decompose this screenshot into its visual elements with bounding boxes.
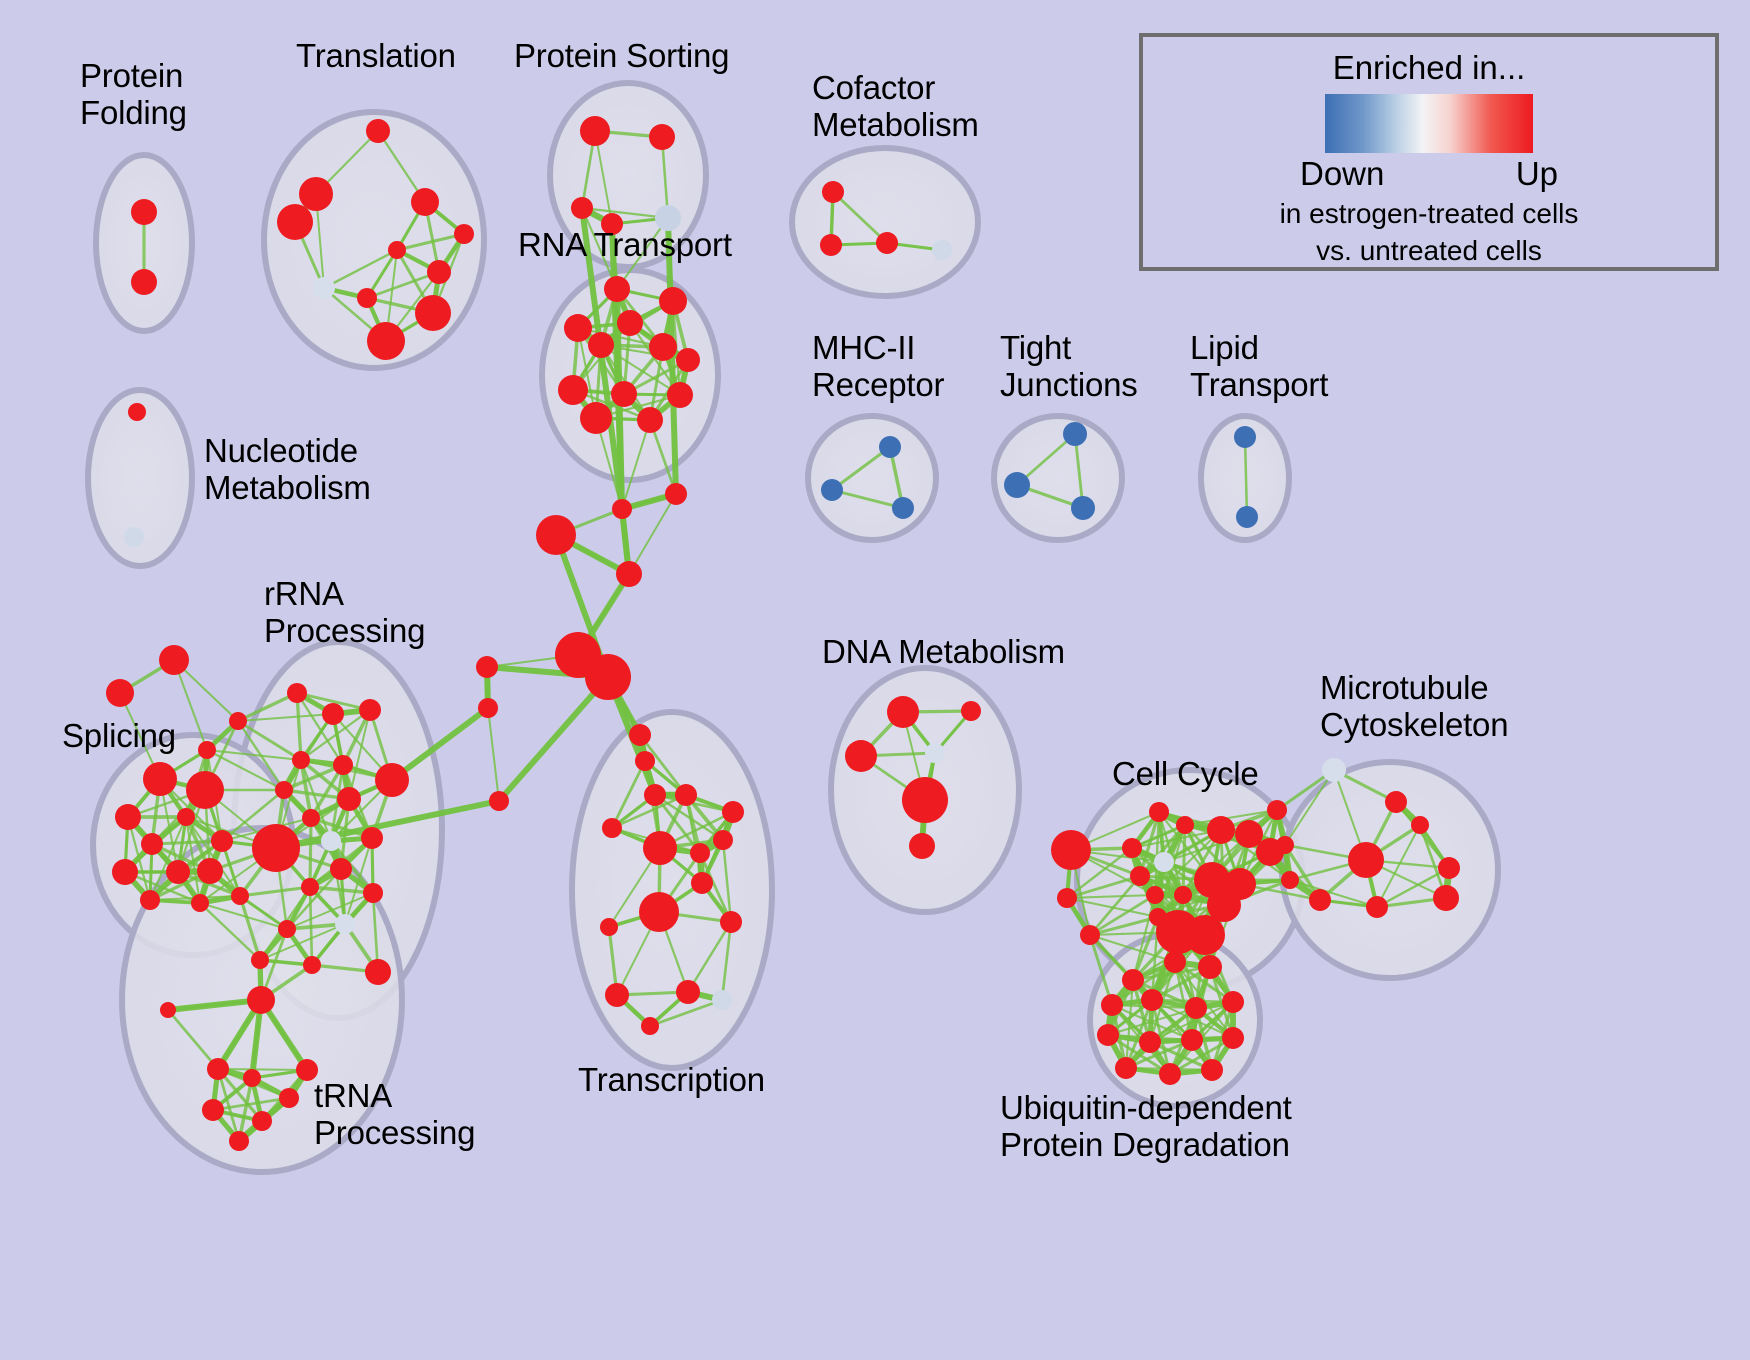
legend-box: Enriched in... Down Up in estrogen-treat… <box>1139 33 1719 271</box>
network-node[interactable] <box>1276 836 1294 854</box>
network-node[interactable] <box>1154 852 1174 872</box>
cluster-label-line: rRNA <box>264 576 425 613</box>
network-node[interactable] <box>675 784 697 806</box>
network-node[interactable] <box>252 824 300 872</box>
network-node[interactable] <box>822 181 844 203</box>
cluster-label-line: Lipid <box>1190 330 1328 367</box>
network-node[interactable] <box>363 883 383 903</box>
edge <box>1183 825 1185 895</box>
cluster-label-nucleotide-metabolism: NucleotideMetabolism <box>204 433 371 507</box>
network-node[interactable] <box>1281 871 1299 889</box>
network-node[interactable] <box>427 260 451 284</box>
network-node[interactable] <box>617 310 643 336</box>
network-node[interactable] <box>367 322 405 360</box>
cluster-hull-mhc-ii-receptor <box>808 416 936 540</box>
network-node[interactable] <box>1348 842 1384 878</box>
network-node[interactable] <box>659 287 687 315</box>
network-node[interactable] <box>602 818 622 838</box>
cluster-label-line: Metabolism <box>812 107 979 144</box>
network-node[interactable] <box>879 436 901 458</box>
cluster-label-transcription: Transcription <box>578 1062 765 1099</box>
network-node[interactable] <box>585 654 631 700</box>
cluster-label-line: Protein Sorting <box>514 38 729 75</box>
cluster-label-translation: Translation <box>296 38 456 75</box>
network-node[interactable] <box>211 830 233 852</box>
network-node[interactable] <box>279 1088 299 1108</box>
cluster-label-line: Processing <box>314 1115 475 1152</box>
color-gradient-bar <box>1325 94 1533 153</box>
network-node[interactable] <box>411 188 439 216</box>
network-node[interactable] <box>361 827 383 849</box>
network-node[interactable] <box>229 712 247 730</box>
network-node[interactable] <box>186 771 224 809</box>
legend-title: Enriched in... <box>1333 49 1526 87</box>
legend-high-label: Up <box>1516 155 1558 193</box>
network-node[interactable] <box>365 959 391 985</box>
cluster-hull-transcription <box>572 712 772 1068</box>
network-node[interactable] <box>335 914 355 934</box>
network-node[interactable] <box>302 809 320 827</box>
network-node[interactable] <box>713 830 733 850</box>
network-node[interactable] <box>330 858 352 880</box>
network-node[interactable] <box>231 887 249 905</box>
network-node[interactable] <box>375 763 409 797</box>
cluster-label-line: Transcription <box>578 1062 765 1099</box>
network-node[interactable] <box>1164 951 1186 973</box>
cluster-label-line: Receptor <box>812 367 944 404</box>
network-node[interactable] <box>159 645 189 675</box>
network-node[interactable] <box>112 859 138 885</box>
network-node[interactable] <box>820 234 842 256</box>
network-node[interactable] <box>1146 886 1164 904</box>
network-node[interactable] <box>287 683 307 703</box>
network-node[interactable] <box>887 696 919 728</box>
network-node[interactable] <box>1198 955 1222 979</box>
cluster-label-splicing: Splicing <box>62 718 176 755</box>
network-node[interactable] <box>676 348 700 372</box>
network-node[interactable] <box>1385 791 1407 813</box>
network-node[interactable] <box>243 1069 261 1087</box>
network-node[interactable] <box>1438 857 1460 879</box>
cluster-label-line: Protein Degradation <box>1000 1127 1292 1164</box>
network-node[interactable] <box>197 858 223 884</box>
network-node[interactable] <box>128 403 146 421</box>
network-node[interactable] <box>191 894 209 912</box>
network-node[interactable] <box>892 497 914 519</box>
network-node[interactable] <box>1176 816 1194 834</box>
network-node[interactable] <box>1080 925 1100 945</box>
network-node[interactable] <box>604 276 630 302</box>
network-node[interactable] <box>301 878 319 896</box>
network-node[interactable] <box>415 295 451 331</box>
network-node[interactable] <box>1097 1024 1119 1046</box>
network-node[interactable] <box>600 918 618 936</box>
network-node[interactable] <box>1222 1027 1244 1049</box>
network-node[interactable] <box>1411 816 1429 834</box>
network-node[interactable] <box>247 986 275 1014</box>
network-node[interactable] <box>932 240 952 260</box>
network-node[interactable] <box>476 656 498 678</box>
cluster-label-cell-cycle: Cell Cycle <box>1112 756 1259 793</box>
cluster-label-line: Splicing <box>62 718 176 755</box>
cluster-label-line: Ubiquitin-dependent <box>1000 1090 1292 1127</box>
network-node[interactable] <box>690 843 710 863</box>
network-node[interactable] <box>649 124 675 150</box>
network-node[interactable] <box>821 479 843 501</box>
network-node[interactable] <box>124 527 144 547</box>
network-node[interactable] <box>1236 506 1258 528</box>
network-node[interactable] <box>1115 1057 1137 1079</box>
cluster-label-line: Nucleotide <box>204 433 371 470</box>
network-node[interactable] <box>1222 991 1244 1013</box>
network-node[interactable] <box>580 402 612 434</box>
network-node[interactable] <box>1185 915 1225 955</box>
network-node[interactable] <box>322 703 344 725</box>
cluster-label-line: Cytoskeleton <box>1320 707 1508 744</box>
network-node[interactable] <box>198 741 216 759</box>
cluster-label-protein-folding: ProteinFolding <box>80 58 187 132</box>
cluster-label-line: tRNA <box>314 1078 475 1115</box>
edge <box>488 708 499 801</box>
network-node[interactable] <box>639 892 679 932</box>
network-node[interactable] <box>649 333 677 361</box>
network-node[interactable] <box>564 314 592 342</box>
network-node[interactable] <box>1071 496 1095 520</box>
network-node[interactable] <box>303 956 321 974</box>
network-node[interactable] <box>1181 1029 1203 1051</box>
cluster-label-line: RNA Transport <box>518 227 732 264</box>
network-node[interactable] <box>321 831 341 851</box>
network-node[interactable] <box>1201 1059 1223 1081</box>
enrichment-map-figure: ProteinFoldingTranslationProtein Sorting… <box>0 0 1750 1360</box>
network-node[interactable] <box>1185 997 1207 1019</box>
network-node[interactable] <box>629 724 651 746</box>
network-node[interactable] <box>665 483 687 505</box>
network-node[interactable] <box>1309 889 1331 911</box>
cluster-label-tight-junctions: TightJunctions <box>1000 330 1138 404</box>
network-node[interactable] <box>292 751 310 769</box>
network-node[interactable] <box>1322 758 1346 782</box>
network-node[interactable] <box>166 860 190 884</box>
cluster-label-line: Cell Cycle <box>1112 756 1259 793</box>
cluster-label-line: Metabolism <box>204 470 371 507</box>
network-node[interactable] <box>277 204 313 240</box>
network-node[interactable] <box>667 382 693 408</box>
cluster-label-protein-sorting: Protein Sorting <box>514 38 729 75</box>
cluster-label-line: Folding <box>80 95 187 132</box>
cluster-label-line: Microtubule <box>1320 670 1508 707</box>
network-node[interactable] <box>357 288 377 308</box>
legend-low-label: Down <box>1300 155 1384 193</box>
network-node[interactable] <box>1139 1031 1161 1053</box>
network-node[interactable] <box>571 197 593 219</box>
cluster-label-line: Junctions <box>1000 367 1138 404</box>
network-node[interactable] <box>337 787 361 811</box>
network-node[interactable] <box>1433 885 1459 911</box>
network-node[interactable] <box>275 781 293 799</box>
network-node[interactable] <box>1063 422 1087 446</box>
network-node[interactable] <box>489 791 509 811</box>
network-node[interactable] <box>366 119 390 143</box>
network-node[interactable] <box>1101 994 1123 1016</box>
legend-endpoint-labels: Down Up <box>1300 155 1558 193</box>
network-node[interactable] <box>1122 969 1144 991</box>
network-node[interactable] <box>1234 426 1256 448</box>
network-node[interactable] <box>140 890 160 910</box>
network-node[interactable] <box>902 777 948 823</box>
network-node[interactable] <box>106 679 134 707</box>
network-node[interactable] <box>612 499 632 519</box>
network-node[interactable] <box>1130 866 1150 886</box>
network-node[interactable] <box>131 199 157 225</box>
network-node[interactable] <box>202 1099 224 1121</box>
cluster-label-rrna-processing: rRNAProcessing <box>264 576 425 650</box>
network-node[interactable] <box>712 990 732 1010</box>
network-node[interactable] <box>229 1131 249 1151</box>
network-node[interactable] <box>478 698 498 718</box>
network-node[interactable] <box>1174 886 1192 904</box>
network-node[interactable] <box>676 980 700 1004</box>
cluster-label-microtubule-cytoskeleton: MicrotubuleCytoskeleton <box>1320 670 1508 744</box>
network-node[interactable] <box>252 1111 272 1131</box>
network-node[interactable] <box>635 751 655 771</box>
cluster-label-lipid-transport: LipidTransport <box>1190 330 1328 404</box>
cluster-label-trna-processing: tRNAProcessing <box>314 1078 475 1152</box>
cluster-label-ubiquitin-degradation: Ubiquitin-dependentProtein Degradation <box>1000 1090 1292 1164</box>
network-node[interactable] <box>611 381 637 407</box>
network-node[interactable] <box>605 983 629 1007</box>
network-node[interactable] <box>313 277 335 299</box>
legend-caption-line1: in estrogen-treated cells <box>1280 197 1579 230</box>
network-node[interactable] <box>641 1017 659 1035</box>
network-node[interactable] <box>207 1058 229 1080</box>
network-node[interactable] <box>637 407 663 433</box>
cluster-label-mhc-ii-receptor: MHC-IIReceptor <box>812 330 944 404</box>
cluster-label-cofactor-metabolism: CofactorMetabolism <box>812 70 979 144</box>
network-node[interactable] <box>1149 802 1169 822</box>
network-node[interactable] <box>691 872 713 894</box>
network-node[interactable] <box>876 232 898 254</box>
network-node[interactable] <box>1141 989 1163 1011</box>
network-node[interactable] <box>141 833 163 855</box>
network-node[interactable] <box>616 561 642 587</box>
network-node[interactable] <box>359 699 381 721</box>
cluster-label-rna-transport: RNA Transport <box>518 227 732 264</box>
cluster-label-line: Tight <box>1000 330 1138 367</box>
network-node[interactable] <box>1057 888 1077 908</box>
cluster-label-line: DNA Metabolism <box>822 634 1065 671</box>
network-node[interactable] <box>558 375 588 405</box>
network-node[interactable] <box>333 755 353 775</box>
cluster-label-line: Protein <box>80 58 187 95</box>
cluster-hull-cofactor-metabolism <box>792 148 978 296</box>
network-node[interactable] <box>1159 1063 1181 1085</box>
network-node[interactable] <box>720 911 742 933</box>
network-node[interactable] <box>115 804 141 830</box>
cluster-label-line: Transport <box>1190 367 1328 404</box>
network-node[interactable] <box>454 224 474 244</box>
network-node[interactable] <box>643 831 677 865</box>
network-node[interactable] <box>961 701 981 721</box>
cluster-label-line: MHC-II <box>812 330 944 367</box>
cluster-label-line: Cofactor <box>812 70 979 107</box>
cluster-label-line: Processing <box>264 613 425 650</box>
network-node[interactable] <box>644 784 666 806</box>
edge <box>310 818 311 887</box>
network-node[interactable] <box>925 743 945 763</box>
network-node[interactable] <box>588 332 614 358</box>
network-node[interactable] <box>388 241 406 259</box>
legend-caption-line2: vs. untreated cells <box>1316 234 1542 267</box>
network-node[interactable] <box>1366 896 1388 918</box>
network-node[interactable] <box>1207 816 1235 844</box>
network-node[interactable] <box>1267 800 1287 820</box>
cluster-label-dna-metabolism: DNA Metabolism <box>822 634 1065 671</box>
network-node[interactable] <box>845 740 877 772</box>
network-node[interactable] <box>909 833 935 859</box>
cluster-label-line: Translation <box>296 38 456 75</box>
network-node[interactable] <box>143 762 177 796</box>
network-node[interactable] <box>299 177 333 211</box>
network-node[interactable] <box>251 951 269 969</box>
network-node[interactable] <box>131 269 157 295</box>
network-node[interactable] <box>580 116 610 146</box>
network-node[interactable] <box>177 808 195 826</box>
network-node[interactable] <box>278 920 296 938</box>
network-node[interactable] <box>722 801 744 823</box>
network-node[interactable] <box>1004 472 1030 498</box>
network-node[interactable] <box>536 515 576 555</box>
network-node[interactable] <box>1122 838 1142 858</box>
network-node[interactable] <box>1051 830 1091 870</box>
network-node[interactable] <box>160 1002 176 1018</box>
cluster-hull-rna-transport <box>542 270 718 480</box>
